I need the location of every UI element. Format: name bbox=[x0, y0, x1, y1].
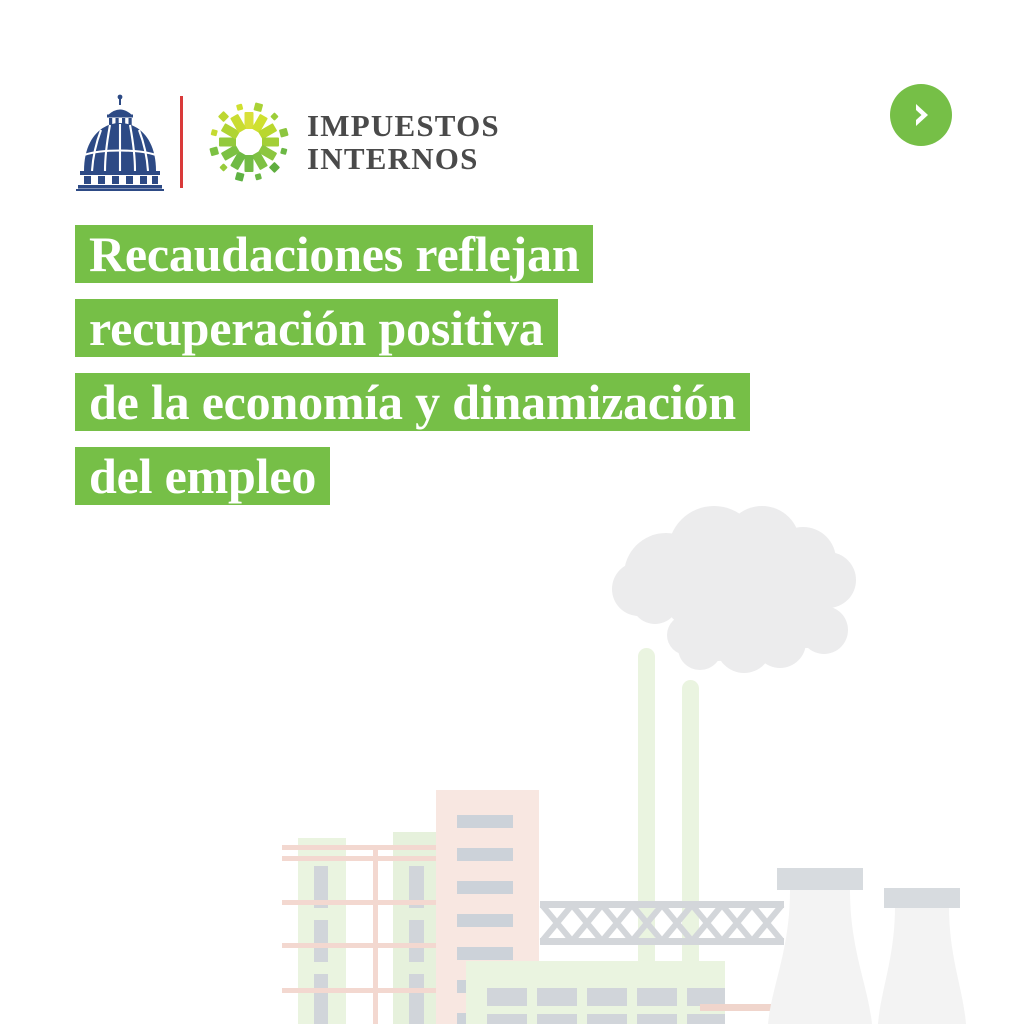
headline-line-4: del empleo bbox=[75, 447, 330, 505]
poster-canvas: IMPUESTOS INTERNOS Recaudaciones refleja… bbox=[0, 0, 1024, 1024]
dominican-republic-dome-icon bbox=[74, 93, 166, 191]
brand-wordmark-line1: IMPUESTOS bbox=[307, 109, 500, 142]
brand-logo-lockup[interactable]: IMPUESTOS INTERNOS bbox=[74, 92, 500, 192]
cooling-tower-large bbox=[768, 868, 872, 1024]
cooling-tower-small bbox=[878, 888, 966, 1024]
factory-block bbox=[466, 961, 725, 1024]
brand-wordmark-line2: INTERNOS bbox=[307, 142, 500, 175]
headline-line-1: Recaudaciones reflejan bbox=[75, 225, 593, 283]
truss-bridge bbox=[540, 901, 784, 945]
scaffolded-tower-left bbox=[298, 838, 346, 1024]
headline-line-3: de la economía y dinamización bbox=[75, 373, 750, 431]
chevron-right-icon bbox=[906, 100, 936, 130]
vertical-divider bbox=[180, 96, 183, 188]
brand-wordmark: IMPUESTOS INTERNOS bbox=[307, 109, 500, 176]
headline-block: Recaudaciones reflejan recuperación posi… bbox=[75, 225, 750, 505]
sunburst-icon bbox=[207, 100, 291, 184]
headline-line-2: recuperación positiva bbox=[75, 299, 558, 357]
poster-header: IMPUESTOS INTERNOS bbox=[0, 0, 1024, 200]
next-slide-button[interactable] bbox=[890, 84, 952, 146]
